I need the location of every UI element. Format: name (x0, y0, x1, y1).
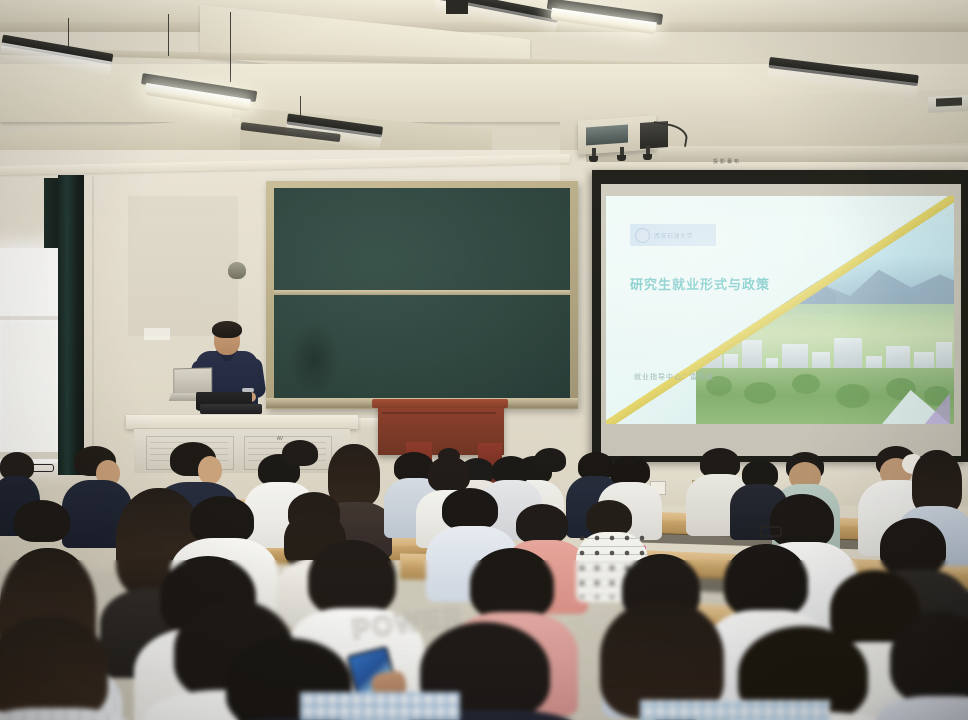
window-curtain[interactable] (58, 175, 84, 475)
projector-foot (589, 156, 598, 162)
slide-university-logo: 西安石油大学 (630, 224, 716, 246)
hair (770, 494, 834, 548)
eyeglasses-icon (760, 526, 782, 537)
hair (428, 456, 470, 492)
wall-seam (92, 176, 94, 476)
hair (308, 540, 396, 616)
blackboard-smudge (288, 320, 340, 398)
blackboard-chalk-rail (274, 290, 570, 295)
head (198, 456, 222, 484)
hair-long (912, 450, 962, 514)
hair (880, 518, 946, 576)
lamp-bracket-4 (446, 0, 468, 14)
lamp-wire-3 (230, 12, 231, 82)
secondary-projector-lens (936, 97, 962, 106)
lectern-top (372, 399, 508, 408)
hair (586, 500, 632, 536)
plaid-shirt-pattern (300, 692, 460, 720)
hair-long (0, 616, 108, 720)
university-crest-icon (635, 228, 650, 243)
equipment-case-lower (200, 404, 262, 414)
lamp-wire-2 (168, 14, 169, 56)
hair (470, 548, 554, 620)
slide-logo-text: 西安石油大学 (654, 231, 693, 240)
plaid-shirt-pattern-right (640, 700, 830, 720)
window-glass-upper (2, 252, 56, 314)
window-glass-lower (2, 322, 56, 452)
wall-speaker-icon (228, 262, 246, 279)
screen-frame-caption: 投影幕布 (692, 156, 762, 168)
presentation-slide: 西安石油大学 研究生就业形式与政策 就业指导中心：雷晓敏 (606, 196, 954, 424)
presenter-hair (212, 321, 242, 338)
slide-title: 研究生就业形式与政策 (630, 274, 810, 293)
projector-lens (586, 125, 628, 146)
wall-stain (128, 196, 238, 336)
projector-foot (643, 154, 652, 160)
hair (724, 544, 808, 618)
window-mullion (0, 316, 58, 320)
lectern-edge (382, 412, 496, 414)
hair (534, 448, 566, 472)
teacher-desk-top (126, 415, 358, 429)
hair (282, 440, 318, 466)
hair-long (328, 444, 380, 506)
hair (442, 488, 498, 530)
projector-foot (617, 155, 626, 161)
hair (190, 496, 254, 544)
hair (516, 504, 568, 544)
wall-notice (144, 328, 170, 340)
classroom-scene: 投影幕布 (0, 0, 968, 720)
slide-subtitle: 就业指导中心：雷晓敏 (634, 372, 714, 382)
